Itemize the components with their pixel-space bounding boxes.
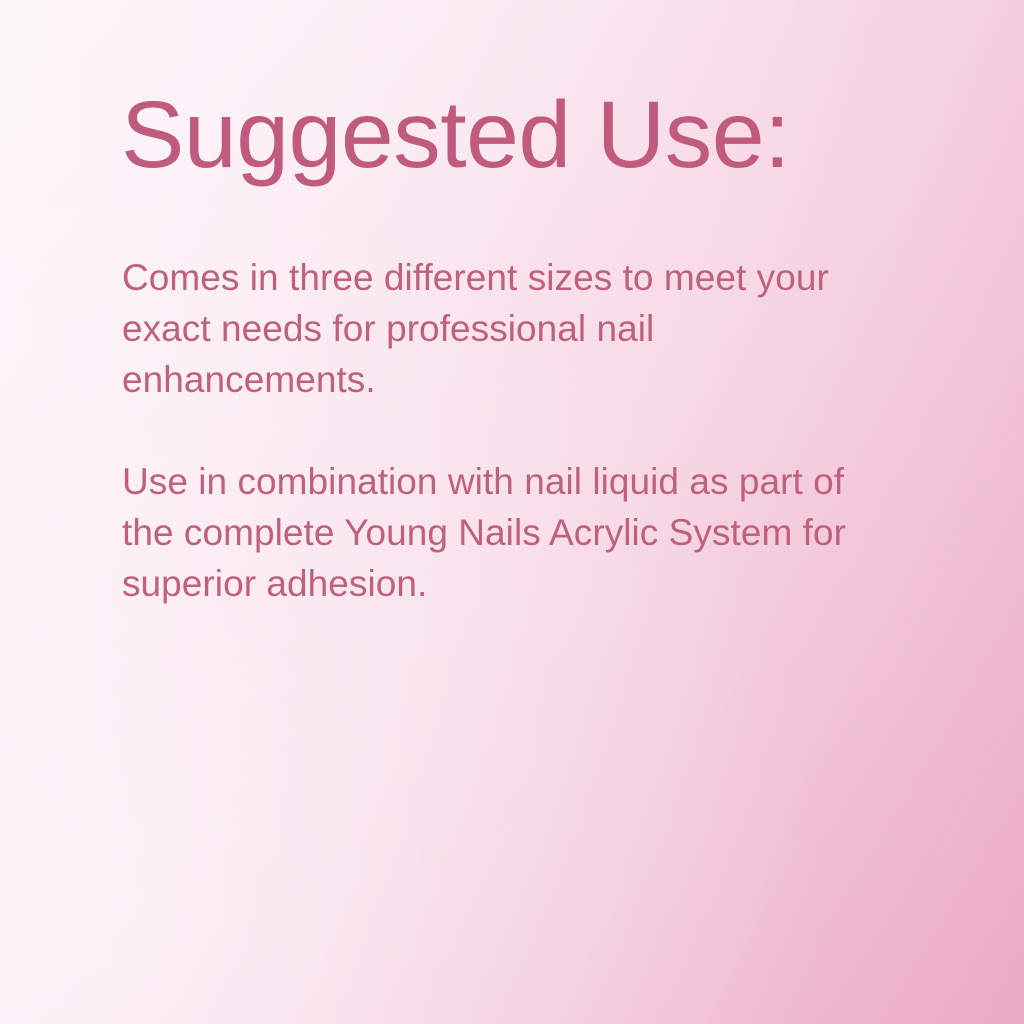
description-paragraph: Comes in three different sizes to meet y…	[122, 252, 882, 405]
product-info-card: Suggested Use: Comes in three different …	[0, 0, 1024, 1024]
body-copy: Comes in three different sizes to meet y…	[122, 252, 882, 609]
description-paragraph: Use in combination with nail liquid as p…	[122, 456, 882, 609]
page-title: Suggested Use:	[121, 88, 790, 183]
